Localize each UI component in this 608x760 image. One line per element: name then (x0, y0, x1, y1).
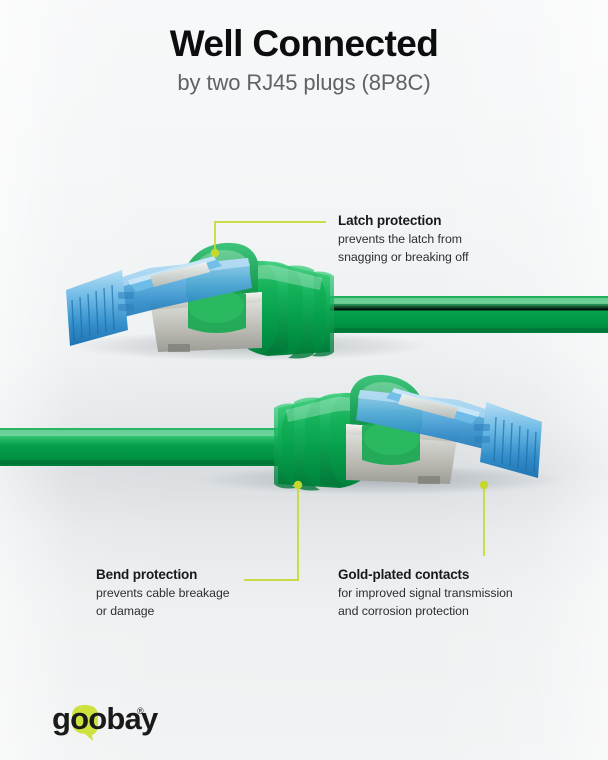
logo-registered-mark: ® (137, 706, 144, 716)
callout-bend-protection: Bend protection prevents cable breakage … (96, 566, 230, 620)
callout-latch-line-2: snagging or breaking off (338, 248, 469, 266)
callout-bend-title: Bend protection (96, 566, 230, 584)
callout-gold-title: Gold-plated contacts (338, 566, 513, 584)
callout-latch-title: Latch protection (338, 212, 469, 230)
callout-gold-line-1: for improved signal transmission (338, 584, 513, 602)
callout-gold-line-2: and corrosion protection (338, 602, 513, 620)
product-illustration (0, 0, 608, 760)
callout-bend-line-2: or damage (96, 602, 230, 620)
callout-latch-protection: Latch protection prevents the latch from… (338, 212, 469, 266)
callout-bend-line-1: prevents cable breakage (96, 584, 230, 602)
upper-cable-assembly (66, 243, 608, 361)
goobay-logo: goobay ® (52, 702, 202, 742)
infographic-canvas: Well Connected by two RJ45 plugs (8P8C) (0, 0, 608, 760)
callout-gold-plated-contacts: Gold-plated contacts for improved signal… (338, 566, 513, 620)
lower-cable-assembly (0, 375, 565, 495)
callout-latch-line-1: prevents the latch from (338, 230, 469, 248)
